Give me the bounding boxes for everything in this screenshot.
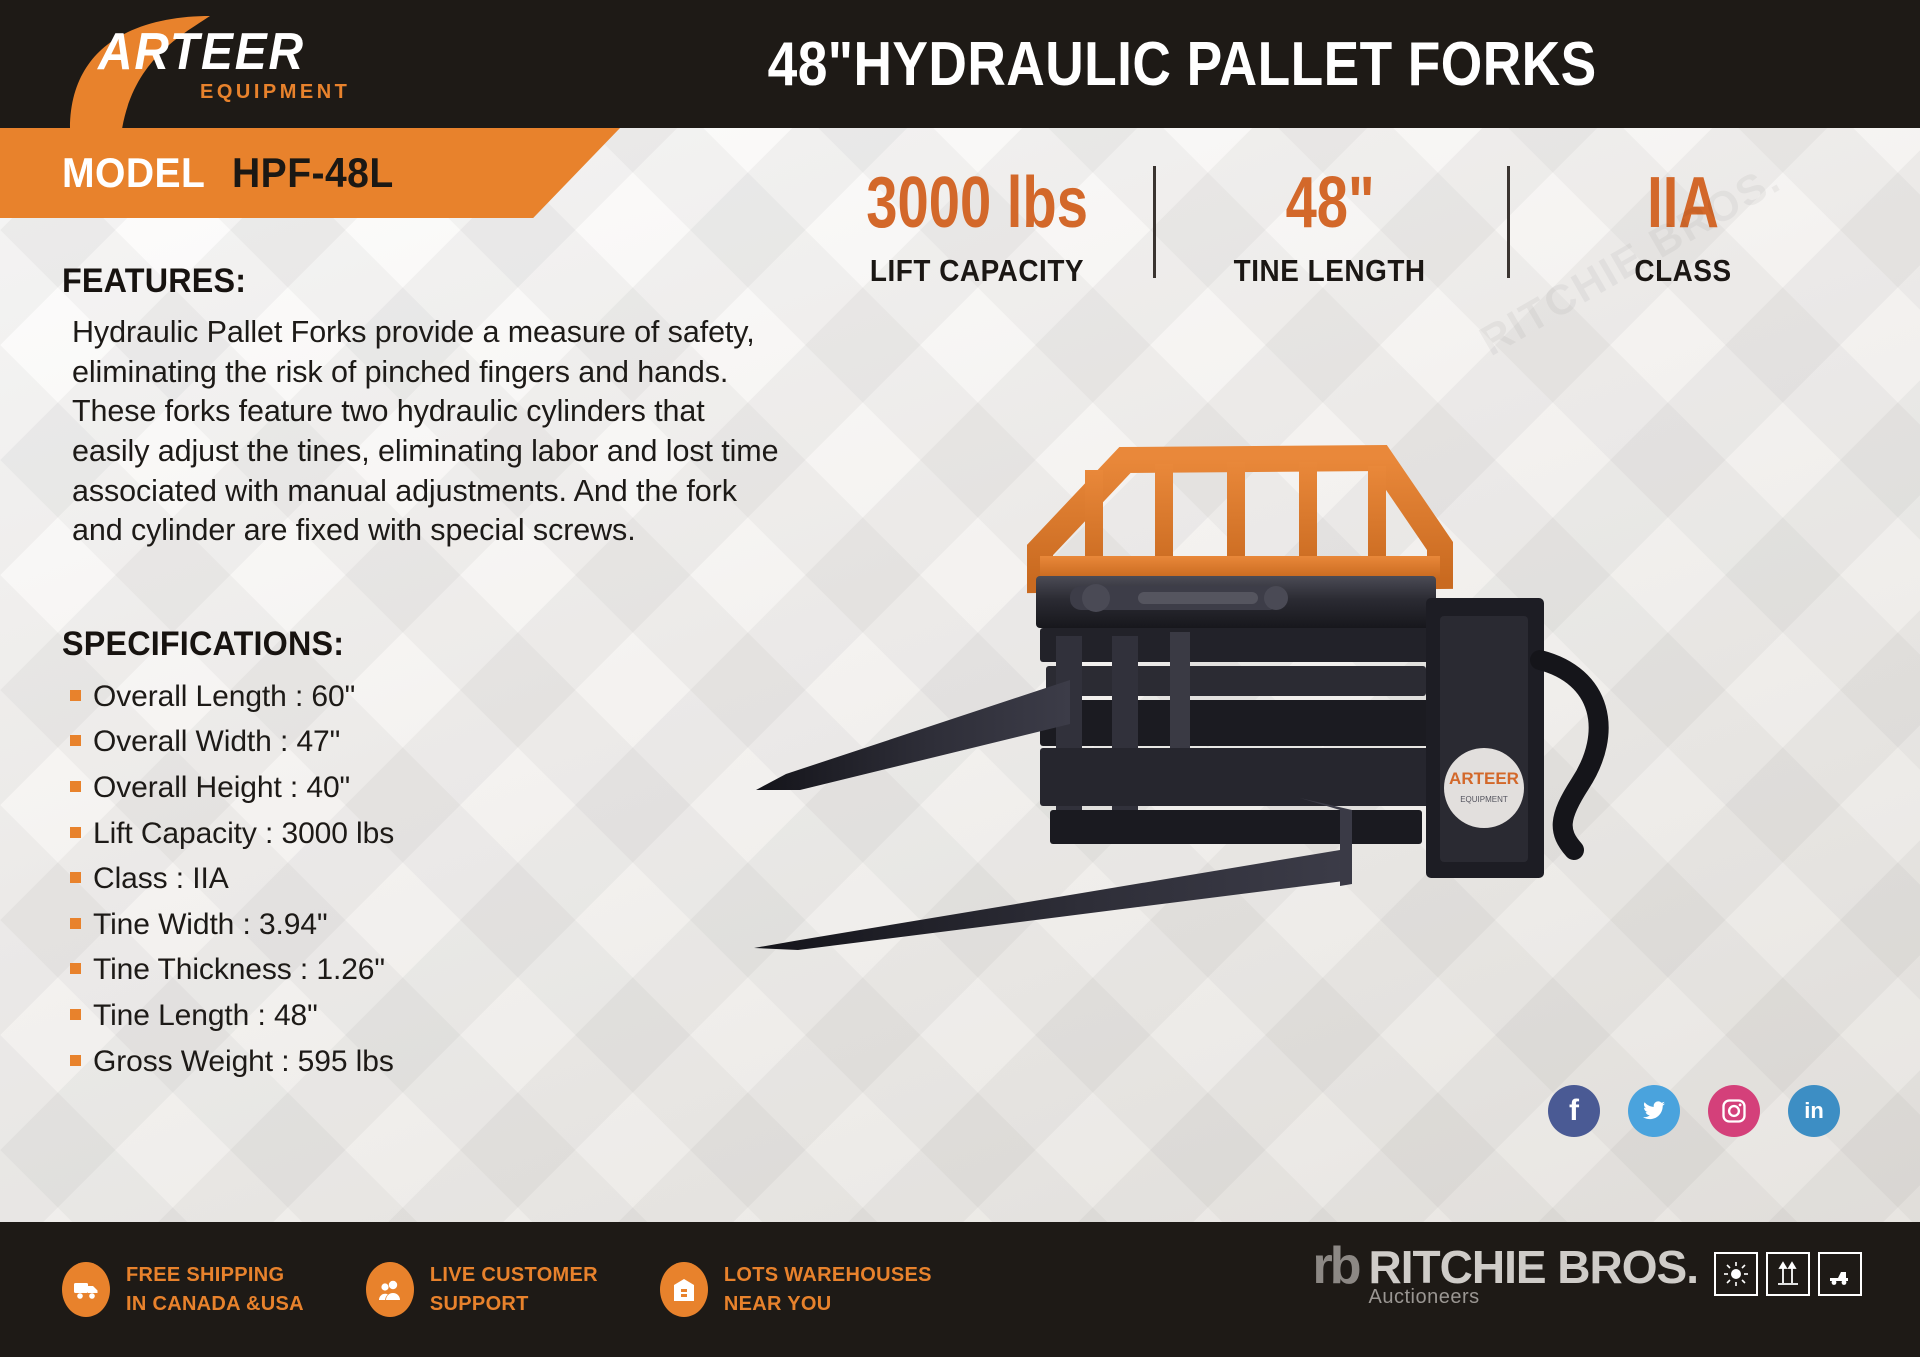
spec-item-label: Overall Height : 40" — [93, 765, 350, 811]
stat-lift-capacity: 3000 lbs LIFT CAPACITY — [800, 160, 1153, 295]
model-label: MODEL — [62, 149, 205, 197]
stat-value: IIA — [1647, 167, 1719, 239]
brand-name: ARTEER — [98, 26, 440, 78]
facebook-icon[interactable]: f — [1548, 1085, 1600, 1137]
header-bar: ARTEER EQUIPMENT 48"HYDRAULIC PALLET FOR… — [0, 0, 1920, 128]
service-line2: IN CANADA &USA — [126, 1290, 304, 1319]
spec-item: Tine Thickness : 1.26" — [70, 947, 792, 993]
specifications-heading: SPECIFICATIONS: — [62, 625, 756, 664]
stat-value: 3000 lbs — [866, 167, 1088, 239]
instagram-glyph — [1720, 1097, 1748, 1125]
spec-item-label: Overall Length : 60" — [93, 674, 355, 720]
spec-item: Gross Weight : 595 lbs — [70, 1039, 792, 1085]
service-text: LOTS WAREHOUSES NEAR YOU — [724, 1261, 932, 1319]
spec-item: Overall Width : 47" — [70, 719, 792, 765]
product-spec-sheet: ARTEER EQUIPMENT 48"HYDRAULIC PALLET FOR… — [0, 0, 1920, 1357]
hydraulic-hose — [1540, 660, 1599, 850]
twitter-bird-glyph — [1640, 1099, 1668, 1123]
features-body: Hydraulic Pallet Forks provide a measure… — [72, 313, 782, 551]
svg-text:ARTEER: ARTEER — [1449, 769, 1519, 788]
stat-label: CLASS — [1635, 253, 1732, 289]
key-stats-row: 3000 lbs LIFT CAPACITY 48" TINE LENGTH I… — [800, 160, 1860, 295]
spec-item-label: Lift Capacity : 3000 lbs — [93, 811, 394, 857]
service-badges: FREE SHIPPING IN CANADA &USA LIVE CUSTOM… — [62, 1261, 932, 1319]
upper-tine — [756, 680, 1070, 790]
service-line2: NEAR YOU — [724, 1290, 932, 1319]
stat-value: 48" — [1285, 167, 1374, 239]
spec-item-label: Class : IIA — [93, 856, 229, 902]
backrest-frame — [1040, 458, 1440, 580]
service-live-support: LIVE CUSTOMER SUPPORT — [366, 1261, 598, 1319]
stat-label: TINE LENGTH — [1234, 253, 1426, 289]
sun-icon — [1714, 1252, 1758, 1296]
truck-icon — [62, 1262, 110, 1317]
service-line1: LOTS WAREHOUSES — [724, 1261, 932, 1290]
bullet-square-icon — [70, 735, 81, 746]
stat-label: LIFT CAPACITY — [870, 253, 1084, 289]
stat-class: IIA CLASS — [1507, 160, 1860, 295]
spec-item: Overall Length : 60" — [70, 674, 792, 720]
service-text: LIVE CUSTOMER SUPPORT — [430, 1261, 598, 1319]
bullet-square-icon — [70, 781, 81, 792]
spec-item: Class : IIA — [70, 856, 792, 902]
bullet-square-icon — [70, 963, 81, 974]
svg-text:EQUIPMENT: EQUIPMENT — [1460, 795, 1508, 804]
spec-item-label: Tine Length : 48" — [93, 993, 318, 1039]
hydraulic-cylinders — [1070, 584, 1288, 612]
social-links: f in — [1548, 1085, 1840, 1137]
model-value: HPF-48L — [232, 149, 394, 197]
height-arrows-icon — [1766, 1252, 1810, 1296]
spec-item-label: Tine Width : 3.94" — [93, 902, 328, 948]
model-banner: MODEL HPF-48L — [0, 128, 620, 218]
spec-item: Overall Height : 40" — [70, 765, 792, 811]
brand-logo[interactable]: ARTEER EQUIPMENT — [50, 0, 470, 128]
page-title: 48"HYDRAULIC PALLET FORKS — [572, 29, 1819, 100]
people-icon — [366, 1262, 414, 1317]
rb-wordmark: RITCHIE BROS. — [1369, 1244, 1698, 1290]
instagram-icon[interactable] — [1708, 1085, 1760, 1137]
stat-tine-length: 48" TINE LENGTH — [1153, 160, 1506, 295]
bullet-square-icon — [70, 690, 81, 701]
features-heading: FEATURES: — [62, 262, 756, 301]
linkedin-icon[interactable]: in — [1788, 1085, 1840, 1137]
bullet-square-icon — [70, 872, 81, 883]
spec-item: Tine Length : 48" — [70, 993, 792, 1039]
carriage-body — [1036, 576, 1436, 844]
spec-item: Lift Capacity : 3000 lbs — [70, 811, 792, 857]
bullet-square-icon — [70, 1055, 81, 1066]
twitter-icon[interactable] — [1628, 1085, 1680, 1137]
loader-icon — [1818, 1252, 1862, 1296]
service-text: FREE SHIPPING IN CANADA &USA — [126, 1261, 304, 1319]
spec-item-label: Overall Width : 47" — [93, 719, 340, 765]
left-content-column: FEATURES: Hydraulic Pallet Forks provide… — [62, 262, 792, 1084]
bullet-square-icon — [70, 827, 81, 838]
ritchie-bros-logo: rb RITCHIE BROS. Auctioneers — [1313, 1244, 1862, 1309]
linkedin-glyph: in — [1804, 1098, 1824, 1124]
mounting-plate: ARTEER EQUIPMENT — [1426, 598, 1544, 878]
spec-item: Tine Width : 3.94" — [70, 902, 792, 948]
spec-item-label: Tine Thickness : 1.26" — [93, 947, 385, 993]
warehouse-icon — [660, 1262, 708, 1317]
bullet-square-icon — [70, 1009, 81, 1020]
bullet-square-icon — [70, 918, 81, 929]
service-free-shipping: FREE SHIPPING IN CANADA &USA — [62, 1261, 304, 1319]
rb-badges — [1714, 1252, 1862, 1296]
service-line1: FREE SHIPPING — [126, 1261, 304, 1290]
service-warehouses: LOTS WAREHOUSES NEAR YOU — [660, 1261, 932, 1319]
facebook-glyph: f — [1569, 1094, 1579, 1128]
brand-tagline: EQUIPMENT — [200, 82, 470, 102]
product-image: ARTEER EQUIPMENT — [740, 380, 1800, 1000]
spec-item-label: Gross Weight : 595 lbs — [93, 1039, 394, 1085]
rb-mark: rb — [1313, 1244, 1359, 1288]
footer-bar: FREE SHIPPING IN CANADA &USA LIVE CUSTOM… — [0, 1222, 1920, 1357]
service-line2: SUPPORT — [430, 1290, 598, 1319]
service-line1: LIVE CUSTOMER — [430, 1261, 598, 1290]
specifications-list: Overall Length : 60" Overall Width : 47"… — [70, 674, 792, 1084]
